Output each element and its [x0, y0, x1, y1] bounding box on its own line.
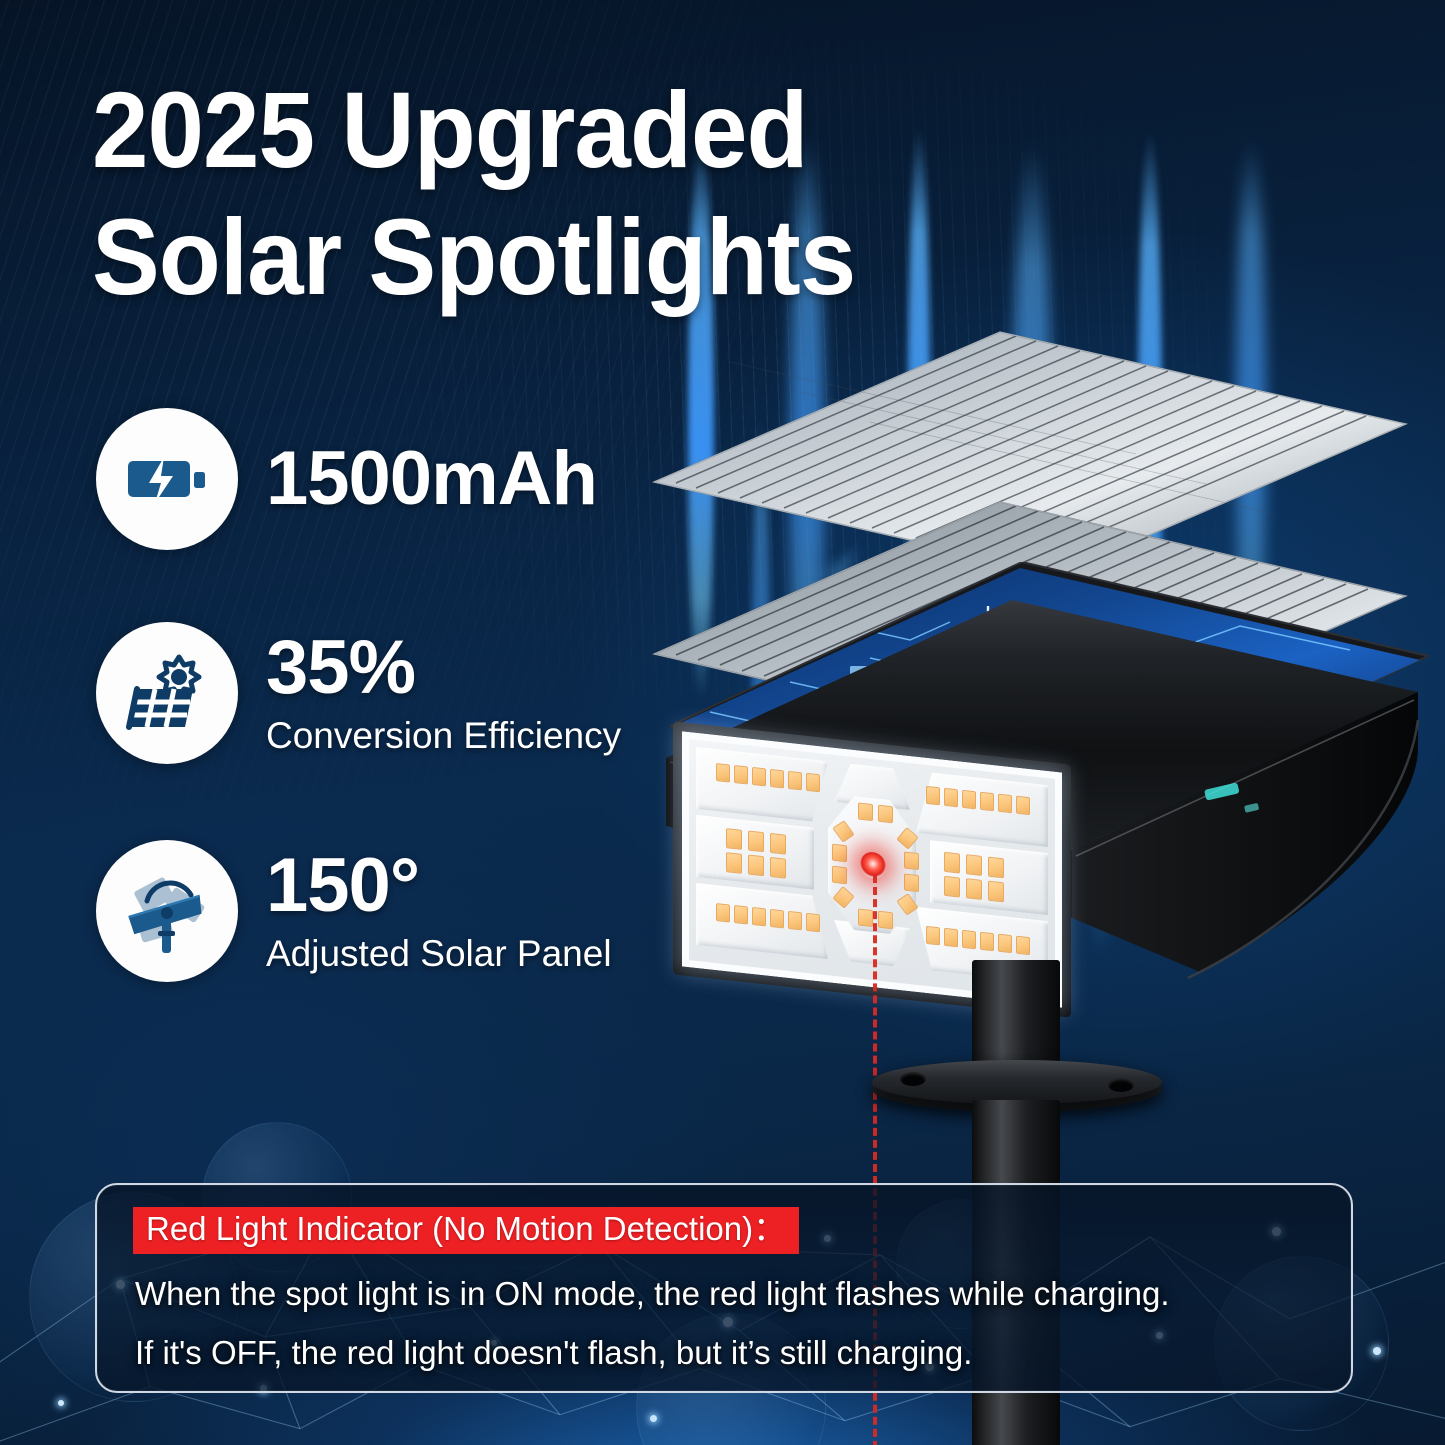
solar-panel-sun-icon: [96, 622, 238, 764]
feature-value: 1500mAh: [266, 441, 597, 517]
battery-charging-icon: [96, 408, 238, 550]
page-title: 2025 Upgraded Solar Spotlights: [92, 66, 994, 321]
adjustable-solar-panel-icon: [96, 840, 238, 982]
feature-adjustable-panel: 150° Adjusted Solar Panel: [96, 840, 612, 982]
infographic-canvas: 2025 Upgraded Solar Spotlights 1500mAh: [0, 0, 1445, 1445]
callout-line-2: If it's OFF, the red light doesn't flash…: [135, 1335, 1351, 1372]
feature-battery-capacity: 1500mAh: [96, 408, 597, 550]
feature-label: Conversion Efficiency: [266, 716, 621, 757]
feature-label: Adjusted Solar Panel: [266, 934, 612, 975]
feature-conversion-efficiency: 35% Conversion Efficiency: [96, 622, 621, 764]
feature-value: 35%: [266, 630, 621, 706]
feature-value: 150°: [266, 848, 612, 924]
callout-line-1: When the spot light is in ON mode, the r…: [135, 1276, 1351, 1313]
callout-heading: Red Light Indicator (No Motion Detection…: [133, 1207, 799, 1254]
red-light-indicator-callout: Red Light Indicator (No Motion Detection…: [95, 1183, 1353, 1393]
